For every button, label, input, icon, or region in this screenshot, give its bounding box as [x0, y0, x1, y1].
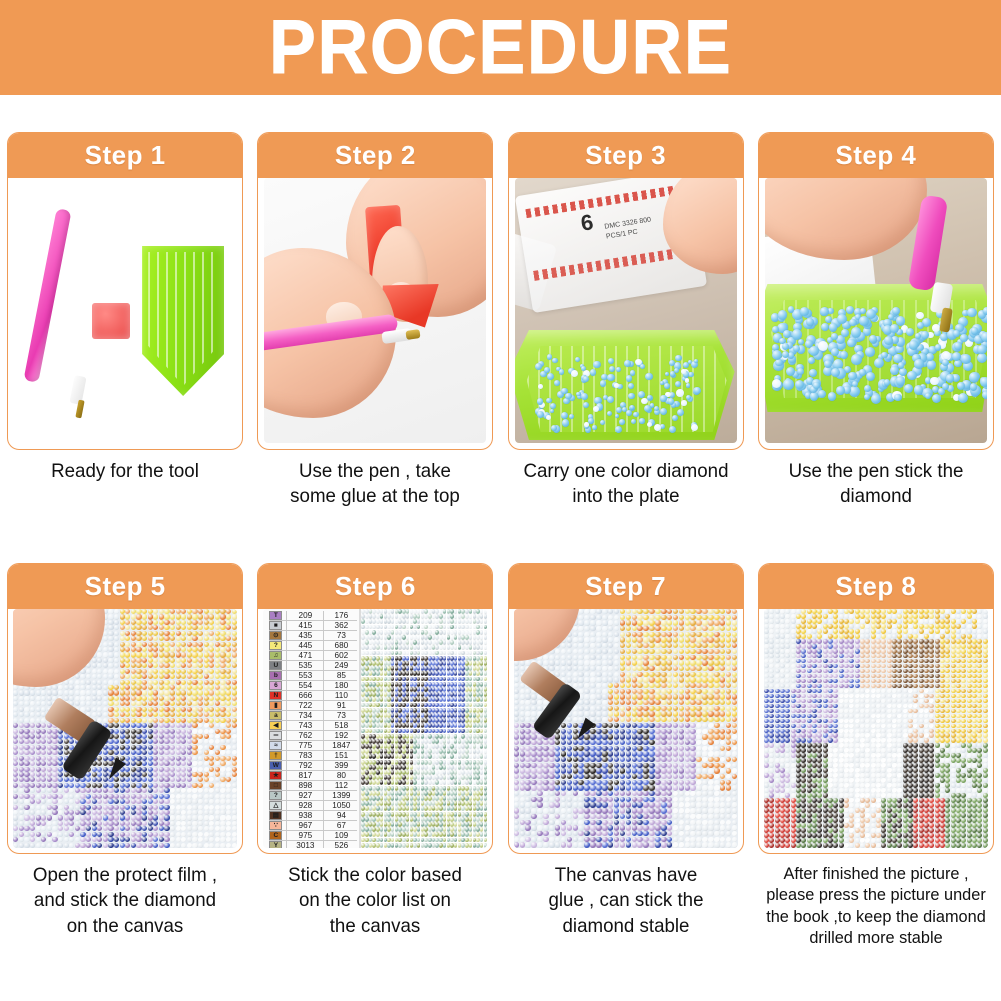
diamond-bead	[13, 805, 18, 810]
diamond-bead	[97, 680, 102, 685]
diamond-bead	[608, 706, 614, 711]
diamond-bead	[13, 734, 18, 739]
diamond-bead	[192, 620, 197, 625]
diamond-bead	[702, 626, 708, 631]
diamond-bead	[148, 674, 153, 679]
diamond-bead	[187, 614, 192, 619]
diamond-bead	[204, 745, 209, 750]
diamond-bead	[164, 701, 169, 706]
diamond-bead	[19, 788, 24, 793]
diamond-bead	[153, 620, 158, 625]
diamond-bead	[454, 666, 457, 671]
diamond-bead	[136, 614, 141, 619]
diamond-bead	[30, 767, 35, 772]
diamond-bead	[153, 658, 158, 663]
diamond-bead	[655, 706, 661, 711]
dmc-code-cell: 928	[286, 801, 324, 810]
diamond-bead	[170, 636, 175, 641]
diamond-bead	[187, 609, 192, 614]
diamond-bead	[19, 723, 24, 728]
diamond-bead	[226, 767, 231, 772]
diamond-bead	[608, 711, 614, 716]
diamond-bead	[469, 775, 472, 780]
diamond-bead	[192, 783, 197, 788]
diamond-bead	[232, 761, 237, 766]
diamond-bead	[13, 707, 18, 712]
diamond-bead	[626, 706, 632, 711]
dmc-code-cell: 722	[286, 701, 324, 710]
diamond-bead	[86, 821, 91, 826]
diamond-bead	[520, 740, 526, 745]
diamond-bead	[232, 734, 237, 739]
diamond-bead	[417, 651, 420, 656]
diamond-bead	[215, 729, 220, 734]
diamond-bead	[92, 767, 97, 772]
caption-line: on the canvas	[11, 914, 239, 939]
diamond-bead	[209, 788, 214, 793]
diamond-bead	[108, 843, 113, 848]
diamond-bead	[620, 620, 626, 625]
diamond-bead	[643, 632, 649, 637]
diamond-bead	[391, 692, 394, 697]
diamond-bead	[36, 739, 41, 744]
diamond-bead	[454, 744, 457, 749]
diamond-bead	[159, 647, 164, 652]
diamond-bead	[391, 734, 394, 739]
diamond-bead	[720, 626, 726, 631]
diamond-bead	[159, 821, 164, 826]
diamond-bead	[232, 696, 237, 701]
diamond-bead	[643, 626, 649, 631]
diamond-bead	[136, 739, 141, 744]
diamond-bead	[643, 672, 649, 677]
diamond-bead	[170, 843, 175, 848]
diamond-bead	[13, 685, 18, 690]
diamond-bead	[131, 663, 136, 668]
diamond-bead	[220, 729, 225, 734]
diamond-bead	[215, 810, 220, 815]
diamond-bead	[114, 837, 119, 842]
diamond-bead	[136, 777, 141, 782]
diamond-bead	[590, 677, 596, 682]
diamond-bead	[198, 685, 203, 690]
diamond-bead	[661, 706, 667, 711]
diamond-bead	[47, 696, 52, 701]
diamond-bead	[80, 805, 85, 810]
diamond-bead	[209, 750, 214, 755]
diamond-bead	[120, 647, 125, 652]
diamond-bead	[649, 746, 655, 751]
diamond-bead	[454, 786, 457, 791]
diamond-bead	[131, 680, 136, 685]
diamond-bead	[443, 812, 446, 817]
diamond-bead	[484, 754, 487, 759]
diamond-bead	[131, 745, 136, 750]
diamond-bead	[391, 614, 394, 619]
diamond-bead	[170, 772, 175, 777]
diamond-bead	[578, 711, 584, 716]
diamond-bead	[136, 723, 141, 728]
diamond-bead	[690, 620, 696, 625]
diamond-bead	[164, 805, 169, 810]
tray-ribs-icon	[527, 346, 727, 432]
diamond-bead	[131, 843, 136, 848]
diamond-bead	[19, 761, 24, 766]
diamond-bead	[643, 700, 649, 705]
diamond-bead	[52, 772, 57, 777]
diamond-bead	[578, 660, 584, 665]
step-5-caption: Open the protect film , and stick the di…	[11, 863, 239, 939]
diamond-bead	[655, 643, 661, 648]
diamond-bead	[655, 751, 661, 756]
diamond-bead	[36, 723, 41, 728]
diamond-bead	[13, 843, 18, 848]
diamond-bead	[114, 680, 119, 685]
diamond-bead	[643, 643, 649, 648]
diamond-bead	[661, 746, 667, 751]
diamond-bead	[567, 746, 573, 751]
diamond-bead	[142, 652, 147, 657]
diamond-bead	[192, 794, 197, 799]
diamond-bead	[590, 683, 596, 688]
diamond-bead	[142, 701, 147, 706]
diamond-bead	[232, 799, 237, 804]
diamond-bead	[108, 614, 113, 619]
diamond-bead	[685, 740, 691, 745]
diamond-bead	[620, 706, 626, 711]
diamond-bead	[176, 696, 181, 701]
diamond-bead	[125, 739, 130, 744]
diamond-bead	[52, 799, 57, 804]
diamond-bead	[153, 701, 158, 706]
diamond-bead	[637, 609, 643, 614]
diamond-bead	[13, 815, 18, 820]
diamond-bead	[220, 843, 225, 848]
diamond-bead	[181, 707, 186, 712]
diamond-bead	[567, 637, 573, 642]
diamond-bead	[726, 632, 732, 637]
diamond-bead	[226, 777, 231, 782]
diamond-bead	[555, 751, 561, 756]
step-2-badge: Step 2	[335, 140, 416, 171]
diamond-bead	[41, 783, 46, 788]
diamond-bead	[637, 660, 643, 665]
diamond-bead	[198, 777, 203, 782]
diamond-bead	[170, 750, 175, 755]
diamond-bead	[480, 640, 483, 645]
diamond-bead	[469, 744, 472, 749]
diamond-bead	[561, 723, 567, 728]
diamond-bead	[136, 799, 141, 804]
diamond-bead	[209, 609, 214, 614]
diamond-bead	[120, 739, 125, 744]
diamond-bead	[204, 696, 209, 701]
diamond-bead	[198, 636, 203, 641]
diamond-bead	[406, 713, 409, 718]
diamond-bead	[380, 635, 383, 640]
diamond-bead	[114, 739, 119, 744]
diamond-bead	[690, 700, 696, 705]
diamond-bead	[232, 788, 237, 793]
color-list-row: ?445680	[269, 641, 357, 651]
diamond-bead	[64, 837, 69, 842]
diamond-bead	[92, 805, 97, 810]
diamond-bead	[108, 799, 113, 804]
diamond-bead	[232, 701, 237, 706]
diamond-bead	[209, 761, 214, 766]
diamond-bead	[13, 729, 18, 734]
diamond-bead	[198, 642, 203, 647]
diamond-bead	[215, 788, 220, 793]
diamond-bead	[13, 756, 18, 761]
diamond-bead	[417, 687, 420, 692]
diamond-bead	[391, 806, 394, 811]
diamond-bead	[632, 700, 638, 705]
color-list-and-canvas-photo: T209176■415362⊙43573?445680♫471602U53524…	[263, 609, 487, 848]
diamond-bead	[187, 745, 192, 750]
diamond-bead	[655, 711, 661, 716]
diamond-bead	[103, 647, 108, 652]
diamond-bead	[64, 745, 69, 750]
diamond-bead	[380, 817, 383, 822]
diamond-bead	[690, 615, 696, 620]
diamond-bead	[153, 777, 158, 782]
diamond-bead	[578, 632, 584, 637]
diamond-bead	[103, 810, 108, 815]
color-symbol-swatch: □	[269, 781, 282, 790]
diamond-bead	[97, 777, 102, 782]
diamond-bead	[108, 745, 113, 750]
diamond-bead	[584, 609, 590, 614]
diamond-bead	[148, 690, 153, 695]
diamond-bead	[19, 772, 24, 777]
diamond-bead	[19, 783, 24, 788]
diamond-bead	[643, 615, 649, 620]
diamond-bead	[215, 685, 220, 690]
diamond-bead	[226, 734, 231, 739]
diamond-bead	[30, 843, 35, 848]
diamond-bead	[584, 660, 590, 665]
diamond-bead	[637, 643, 643, 648]
diamond-bead	[690, 677, 696, 682]
diamond-bead	[159, 843, 164, 848]
diamond-bead	[732, 660, 738, 665]
diamond-bead	[667, 689, 673, 694]
diamond-bead	[578, 677, 584, 682]
diamond-bead	[632, 711, 638, 716]
diamond-bead	[561, 734, 567, 739]
diamond-bead	[567, 740, 573, 745]
diamond-bead	[164, 690, 169, 695]
diamond-bead	[226, 826, 231, 831]
diamond-bead	[75, 815, 80, 820]
diamond-bead	[131, 799, 136, 804]
diamond-bead	[626, 683, 632, 688]
diamond-bead	[406, 708, 409, 713]
diamond-bead	[220, 799, 225, 804]
diamond-bead	[170, 712, 175, 717]
diamond-bead	[232, 631, 237, 636]
diamond-bead	[525, 734, 531, 739]
diamond-bead	[454, 817, 457, 822]
diamond-bead	[97, 783, 102, 788]
diamond-bead	[41, 690, 46, 695]
diamond-bead	[632, 666, 638, 671]
diamond-bead	[192, 669, 197, 674]
diamond-bead	[632, 734, 638, 739]
diamond-bead	[58, 756, 63, 761]
red-glue-square-icon	[92, 303, 130, 339]
diamond-bead	[417, 645, 420, 650]
diamond-bead	[192, 772, 197, 777]
diamond-bead	[159, 690, 164, 695]
diamond-bead	[702, 677, 708, 682]
diamond-bead	[220, 788, 225, 793]
diamond-bead	[69, 680, 74, 685]
diamond-bead	[649, 666, 655, 671]
diamond-bead	[192, 734, 197, 739]
diamond-bead	[667, 643, 673, 648]
diamond-bead	[454, 832, 457, 837]
diamond-bead	[176, 826, 181, 831]
diamond-bead	[164, 794, 169, 799]
diamond-bead	[131, 810, 136, 815]
diamond-bead	[41, 821, 46, 826]
diamond-bead	[673, 643, 679, 648]
diamond-bead	[391, 671, 394, 676]
diamond-bead	[142, 690, 147, 695]
diamond-bead	[480, 614, 483, 619]
diamond-bead	[454, 671, 457, 676]
diamond-bead	[80, 783, 85, 788]
diamond-bead	[204, 767, 209, 772]
diamond-bead	[136, 805, 141, 810]
diamond-bead	[454, 749, 457, 754]
diamond-bead	[153, 674, 158, 679]
diamond-bead	[637, 746, 643, 751]
diamond-bead	[30, 701, 35, 706]
diamond-bead	[443, 671, 446, 676]
diamond-bead	[443, 801, 446, 806]
diamond-bead	[720, 677, 726, 682]
diamond-bead	[602, 717, 608, 722]
diamond-bead	[454, 635, 457, 640]
diamond-bead	[632, 706, 638, 711]
diamond-bead	[181, 674, 186, 679]
diamond-bead	[702, 672, 708, 677]
diamond-bead	[204, 837, 209, 842]
diamond-bead	[454, 838, 457, 843]
diamond-bead	[108, 690, 113, 695]
diamond-bead	[187, 756, 192, 761]
diamond-bead	[454, 708, 457, 713]
diamond-bead	[232, 620, 237, 625]
diamond-bead	[685, 655, 691, 660]
diamond-bead	[596, 729, 602, 734]
diamond-bead	[215, 832, 220, 837]
diamond-bead	[120, 652, 125, 657]
diamond-bead	[131, 609, 136, 614]
diamond-bead	[148, 815, 153, 820]
diamond-bead	[484, 640, 487, 645]
diamond-bead	[24, 772, 29, 777]
diamond-bead	[204, 794, 209, 799]
diamond-bead	[679, 751, 685, 756]
diamond-bead	[643, 706, 649, 711]
color-symbol-swatch: 6	[269, 681, 282, 690]
diamond-bead	[714, 683, 720, 688]
diamond-bead	[226, 788, 231, 793]
diamond-bead	[153, 636, 158, 641]
diamond-bead	[649, 689, 655, 694]
diamond-bead	[469, 817, 472, 822]
diamond-bead	[148, 832, 153, 837]
diamond-bead	[19, 826, 24, 831]
diamond-bead	[417, 806, 420, 811]
diamond-bead	[52, 832, 57, 837]
diamond-bead	[614, 711, 620, 716]
diamond-bead	[480, 682, 483, 687]
diamond-bead	[75, 701, 80, 706]
diamond-bead	[726, 677, 732, 682]
diamond-bead	[608, 734, 614, 739]
diamond-bead	[220, 636, 225, 641]
diamond-bead	[232, 685, 237, 690]
diamond-bead	[170, 696, 175, 701]
diamond-bead	[13, 783, 18, 788]
diamond-bead	[696, 649, 702, 654]
diamond-bead	[204, 723, 209, 728]
diamond-bead	[226, 631, 231, 636]
diamond-bead	[649, 734, 655, 739]
diamond-bead	[58, 745, 63, 750]
diamond-bead	[567, 643, 573, 648]
diamond-bead	[732, 751, 738, 756]
diamond-bead	[602, 689, 608, 694]
diamond-bead	[226, 625, 231, 630]
diamond-bead	[97, 658, 102, 663]
diamond-bead	[187, 750, 192, 755]
pink-pen-icon	[24, 208, 72, 383]
diamond-bead	[417, 718, 420, 723]
quantity-cell: 110	[324, 691, 358, 700]
diamond-bead	[120, 810, 125, 815]
diamond-bead	[192, 680, 197, 685]
diamond-bead	[142, 658, 147, 663]
diamond-bead	[602, 751, 608, 756]
diamond-bead	[443, 619, 446, 624]
diamond-bead	[170, 663, 175, 668]
color-symbol-swatch: ?	[269, 641, 282, 650]
diamond-bead	[578, 672, 584, 677]
diamond-bead	[142, 674, 147, 679]
diamond-bead	[454, 765, 457, 770]
diamond-bead	[204, 620, 209, 625]
dmc-code-cell: 743	[286, 721, 324, 730]
diamond-bead	[47, 756, 52, 761]
diamond-bead	[380, 718, 383, 723]
diamond-bead	[220, 658, 225, 663]
diamond-bead	[602, 694, 608, 699]
diamond-bead	[47, 843, 52, 848]
diamond-bead	[24, 799, 29, 804]
diamond-bead	[209, 772, 214, 777]
diamond-bead	[673, 672, 679, 677]
diamond-bead	[480, 635, 483, 640]
diamond-bead	[380, 791, 383, 796]
diamond-bead	[380, 625, 383, 630]
diamond-bead	[480, 713, 483, 718]
